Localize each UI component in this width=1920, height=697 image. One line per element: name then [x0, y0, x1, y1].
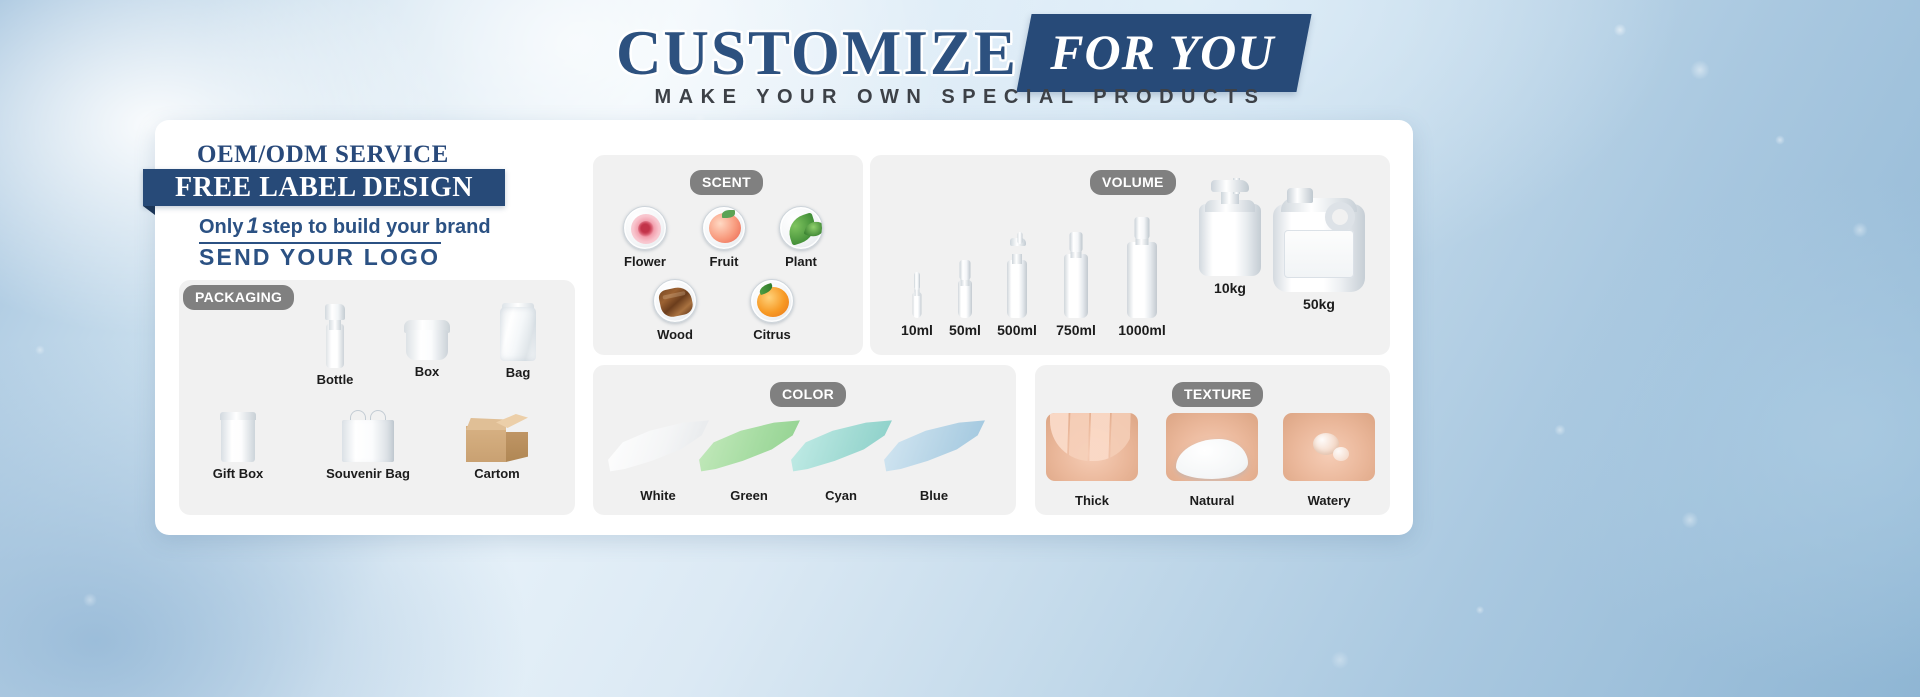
scent-item-wood[interactable]: Wood: [648, 279, 702, 342]
texture-item-label: Watery: [1283, 493, 1375, 508]
texture-item-label: Natural: [1166, 493, 1258, 508]
banner-title-badge: FOR YOU: [1016, 14, 1311, 92]
color-item-label: Green: [697, 488, 801, 503]
cream-smear-icon: [789, 418, 893, 476]
texture-item-natural[interactable]: Natural: [1166, 413, 1258, 508]
packaging-item-cartom[interactable]: Cartom: [447, 414, 547, 481]
pouch-bag-icon: [500, 307, 536, 361]
scent-item-flower[interactable]: Flower: [620, 206, 670, 269]
packaging-item-label: Bottle: [305, 372, 365, 387]
small-bottle-icon: [955, 260, 975, 318]
oem-service-column: OEM/ODM SERVICE FREE LABEL DESIGN Only1s…: [155, 120, 590, 535]
color-item-green[interactable]: Green: [697, 418, 801, 503]
color-item-label: White: [606, 488, 710, 503]
packaging-item-label: Gift Box: [199, 466, 277, 481]
only-prefix: Only: [199, 216, 243, 238]
mini-bottle-icon: [910, 272, 924, 318]
scent-item-label: Plant: [776, 254, 826, 269]
texture-item-label: Thick: [1046, 493, 1138, 508]
big-pump-bottle-icon: [1199, 178, 1261, 276]
scent-item-label: Citrus: [745, 327, 799, 342]
cream-blob-icon: [1166, 413, 1258, 481]
souvenir-bag-icon: [342, 408, 394, 462]
carton-box-icon: [466, 414, 528, 462]
water-drop-skin-icon: [1283, 413, 1375, 481]
cream-smear-icon: [882, 418, 986, 476]
packaging-pill-label: PACKAGING: [183, 285, 294, 310]
banner-title-row: CUSTOMIZE FOR YOU: [0, 14, 1920, 92]
only-one-step-line: Only1step to build your brand: [199, 213, 491, 239]
banner-title-main: CUSTOMIZE: [616, 17, 1032, 90]
scent-item-label: Flower: [620, 254, 670, 269]
volume-item-1000ml[interactable]: 1000ml: [1112, 217, 1172, 338]
volume-item-10ml[interactable]: 10ml: [893, 272, 941, 338]
free-label-design-text: FREE LABEL DESIGN: [175, 172, 473, 204]
scent-item-label: Fruit: [699, 254, 749, 269]
banner-title-badge-label: FOR YOU: [1050, 23, 1274, 81]
send-your-logo-text: SEND YOUR LOGO: [199, 244, 440, 271]
scent-item-label: Wood: [648, 327, 702, 342]
packaging-item-label: Box: [395, 364, 459, 379]
packaging-item-box[interactable]: Box: [395, 320, 459, 379]
orange-icon: [750, 279, 794, 323]
volume-item-label: 10ml: [893, 322, 941, 338]
pump-bottle-icon: [1004, 232, 1030, 318]
packaging-item-label: Souvenir Bag: [313, 466, 423, 481]
cream-smear-icon: [697, 418, 801, 476]
volume-item-label: 500ml: [989, 322, 1045, 338]
volume-item-10kg[interactable]: 10kg: [1198, 178, 1262, 296]
oem-service-title: OEM/ODM SERVICE: [197, 141, 449, 169]
color-item-cyan[interactable]: Cyan: [789, 418, 893, 503]
volume-item-label: 1000ml: [1112, 322, 1172, 338]
volume-item-label: 750ml: [1048, 322, 1104, 338]
packaging-item-souvenir-bag[interactable]: Souvenir Bag: [313, 408, 423, 481]
step-count: 1: [243, 213, 261, 238]
texture-pill-label: TEXTURE: [1172, 382, 1263, 407]
volume-item-500ml[interactable]: 500ml: [989, 232, 1045, 338]
packaging-item-label: Bag: [487, 365, 549, 380]
wood-chip-icon: [653, 279, 697, 323]
only-suffix: step to build your brand: [262, 216, 491, 238]
packaging-item-bottle[interactable]: Bottle: [305, 304, 365, 387]
cream-jar-icon: [404, 320, 450, 360]
cream-smear-icon: [606, 418, 710, 476]
color-item-white[interactable]: White: [606, 418, 710, 503]
color-item-label: Blue: [882, 488, 986, 503]
color-pill-label: COLOR: [770, 382, 846, 407]
volume-item-label: 50kg: [1273, 296, 1365, 312]
packaging-item-label: Cartom: [447, 466, 547, 481]
texture-item-watery[interactable]: Watery: [1283, 413, 1375, 508]
fingers-cream-icon: [1046, 413, 1138, 481]
scent-item-citrus[interactable]: Citrus: [745, 279, 799, 342]
scent-item-plant[interactable]: Plant: [776, 206, 826, 269]
packaging-item-bag[interactable]: Bag: [487, 307, 549, 380]
volume-pill-label: VOLUME: [1090, 170, 1176, 195]
banner-header: CUSTOMIZE FOR YOU MAKE YOUR OWN SPECIAL …: [0, 0, 1920, 125]
color-item-label: Cyan: [789, 488, 893, 503]
pump-bottle-icon: [323, 304, 347, 368]
large-bottle-icon: [1124, 217, 1160, 318]
peach-icon: [702, 206, 746, 250]
jug-container-icon: [1273, 188, 1365, 292]
scent-pill-label: SCENT: [690, 170, 763, 195]
volume-item-50ml[interactable]: 50ml: [941, 260, 989, 338]
scent-item-fruit[interactable]: Fruit: [699, 206, 749, 269]
color-item-blue[interactable]: Blue: [882, 418, 986, 503]
volume-item-label: 50ml: [941, 322, 989, 338]
mint-leaf-icon: [779, 206, 823, 250]
free-label-design-ribbon: FREE LABEL DESIGN: [143, 169, 505, 206]
texture-item-thick[interactable]: Thick: [1046, 413, 1138, 508]
volume-item-750ml[interactable]: 750ml: [1048, 232, 1104, 338]
rose-icon: [623, 206, 667, 250]
packaging-item-gift-box[interactable]: Gift Box: [199, 412, 277, 481]
volume-item-50kg[interactable]: 50kg: [1273, 188, 1365, 312]
ribbon-tail-decoration: [143, 206, 155, 215]
volume-item-label: 10kg: [1198, 280, 1262, 296]
gift-box-icon: [221, 412, 255, 462]
tall-bottle-icon: [1061, 232, 1091, 318]
